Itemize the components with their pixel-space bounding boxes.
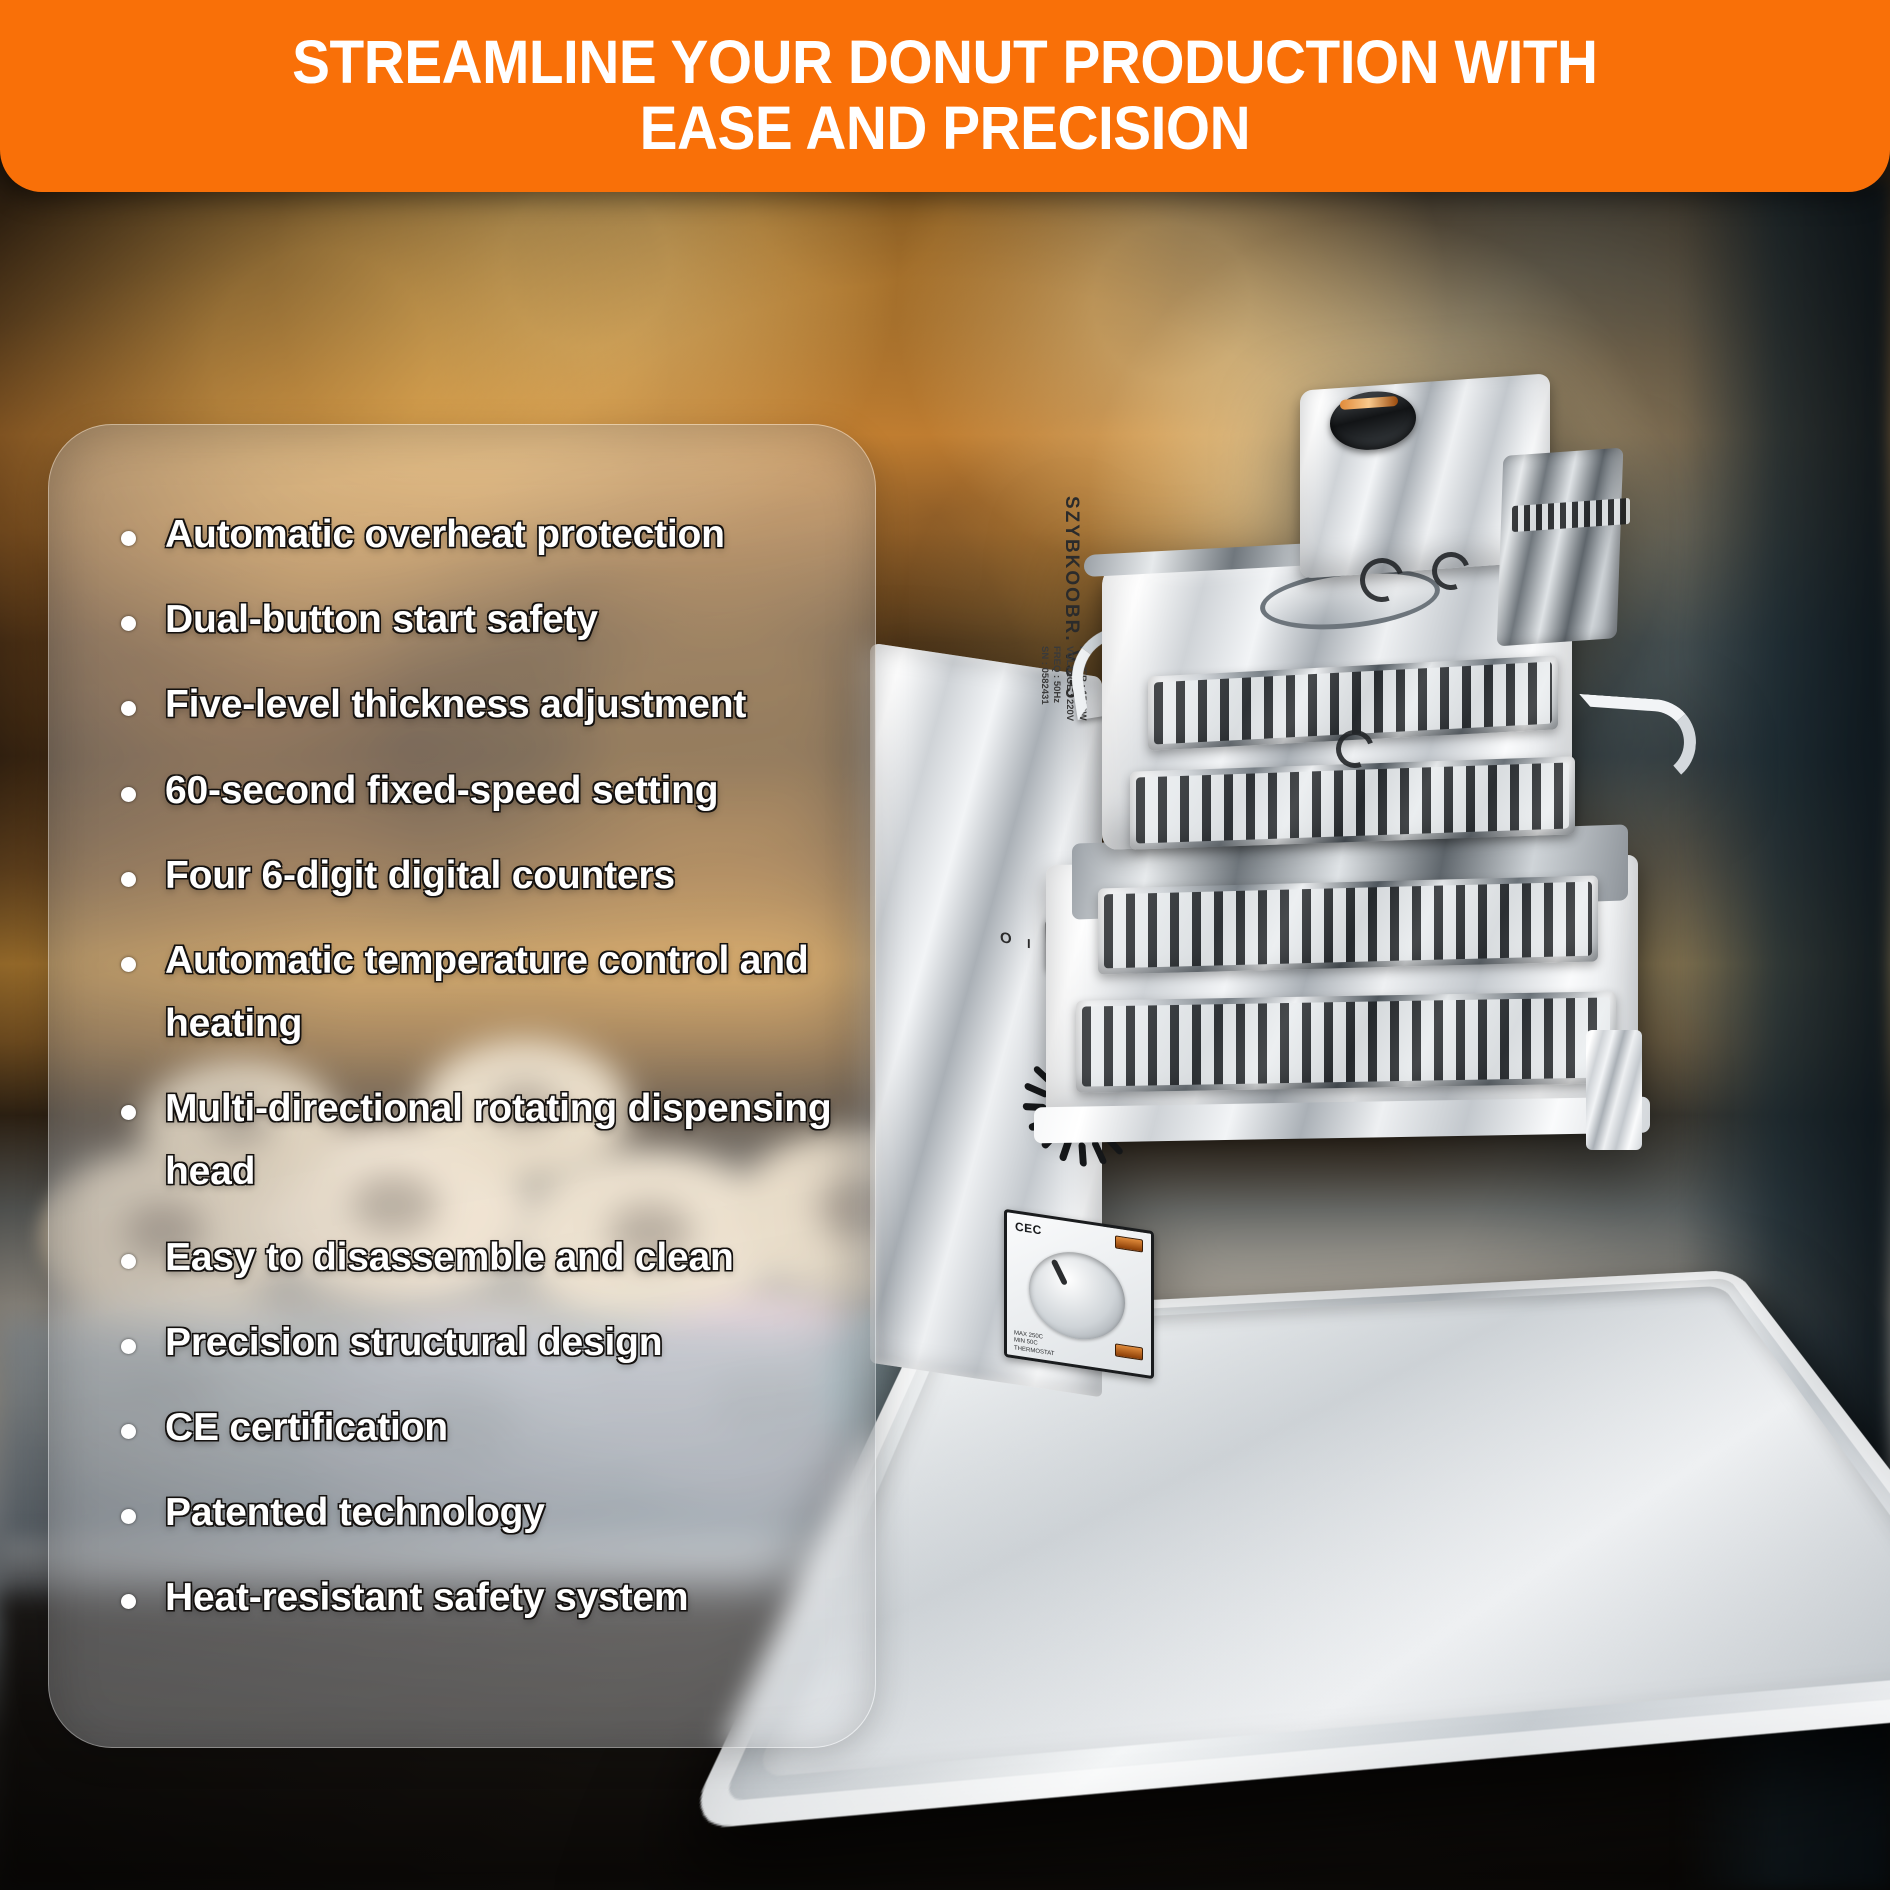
banner-canvas: STREAMLINE YOUR DONUT PRODUCTION WITH EA… <box>0 0 1890 1890</box>
fry-basket-row <box>1130 756 1575 850</box>
thermostat-dial[interactable] <box>1029 1246 1125 1346</box>
basket-comb <box>1104 882 1592 969</box>
list-item: Patented technology <box>107 1481 835 1544</box>
fan-blade <box>1078 1142 1087 1167</box>
header-banner: STREAMLINE YOUR DONUT PRODUCTION WITH EA… <box>0 0 1890 192</box>
basket-comb <box>1136 762 1569 843</box>
fan-blade <box>1091 1140 1108 1165</box>
thermostat-led-top <box>1115 1235 1143 1252</box>
list-item: CE certification <box>107 1396 835 1459</box>
donut-machine-product-image: SZYBKOOBR. VS-5 POWER : 1500W VOLTAGE : … <box>980 430 1870 1860</box>
list-item: Automatic overheat protection <box>107 503 835 566</box>
switch-mark-on: I <box>1027 936 1031 952</box>
list-item: Multi-directional rotating dispensing he… <box>107 1077 835 1203</box>
list-item: Five-level thickness adjustment <box>107 673 835 736</box>
page-title: STREAMLINE YOUR DONUT PRODUCTION WITH EA… <box>236 30 1653 162</box>
fry-basket-row <box>1076 991 1616 1092</box>
thermostat-panel[interactable]: CEC MAX 250C MIN 50C THERMOSTAT <box>1004 1209 1154 1379</box>
fry-basket-row <box>1098 875 1598 974</box>
list-item: Precision structural design <box>107 1311 835 1374</box>
list-item: Dual-button start safety <box>107 588 835 651</box>
fan-blade <box>1024 1082 1049 1099</box>
thickness-adjustment-knob[interactable] <box>1330 389 1416 453</box>
right-carry-handle[interactable] <box>1573 694 1699 788</box>
feature-card: Automatic overheat protection Dual-butto… <box>48 424 876 1748</box>
cutter-support-arm <box>1497 448 1624 647</box>
switch-mark-off: O <box>1000 929 1012 948</box>
right-support-bracket <box>1586 1030 1642 1150</box>
thermostat-micro-text: MAX 250C MIN 50C THERMOSTAT <box>1014 1330 1054 1359</box>
list-item: Easy to disassemble and clean <box>107 1226 835 1289</box>
list-item: Heat-resistant safety system <box>107 1566 835 1629</box>
list-item: Automatic temperature control and heatin… <box>107 929 835 1055</box>
list-item: 60-second fixed-speed setting <box>107 759 835 822</box>
list-item: Four 6-digit digital counters <box>107 844 835 907</box>
feature-list: Automatic overheat protection Dual-butto… <box>107 503 835 1651</box>
thermostat-led-bottom <box>1115 1343 1143 1360</box>
thermostat-brand-label: CEC <box>1015 1219 1042 1237</box>
basket-comb <box>1082 997 1610 1086</box>
